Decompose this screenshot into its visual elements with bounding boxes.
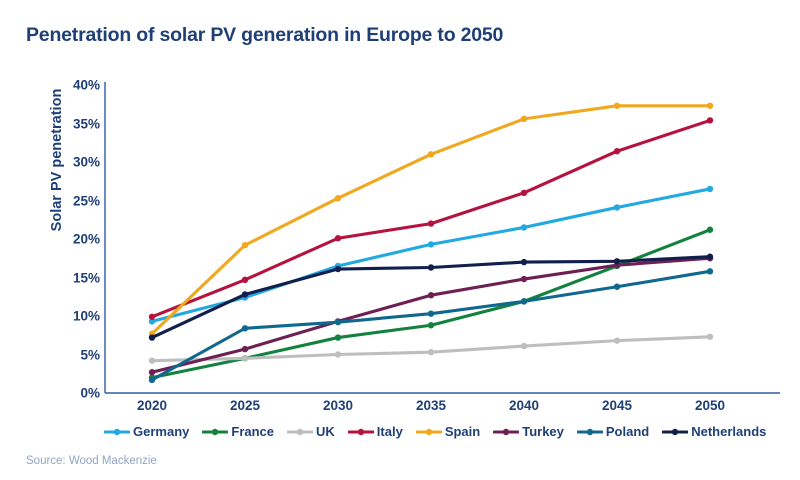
legend-item-netherlands[interactable]: Netherlands [662,424,766,439]
data-point [428,241,434,247]
data-point [521,343,527,349]
legend-label: Italy [377,424,403,439]
chart-series-uk [149,334,713,364]
data-point [614,258,620,264]
data-point [707,103,713,109]
data-point [335,334,341,340]
data-point [707,117,713,123]
data-point [707,186,713,192]
data-point [335,351,341,357]
data-point [428,322,434,328]
legend-swatch-icon [104,426,130,438]
x-tick-label: 2030 [323,398,353,413]
data-point [614,103,620,109]
data-point [335,266,341,272]
data-point [335,235,341,241]
legend-swatch-icon [577,426,603,438]
data-point [707,334,713,340]
legend-label: Turkey [522,424,564,439]
legend-item-spain[interactable]: Spain [416,424,480,439]
data-point [707,268,713,274]
data-point [149,369,155,375]
legend-item-france[interactable]: France [202,424,274,439]
legend-swatch-icon [202,426,228,438]
chart-axes [105,82,780,393]
x-tick-label: 2040 [509,398,539,413]
x-tick-label: 2035 [416,398,446,413]
data-point [428,264,434,270]
legend-item-germany[interactable]: Germany [104,424,189,439]
chart-plot-area: Solar PV penetration 0%5%10%15%20%25%30%… [0,0,800,480]
data-point [242,277,248,283]
legend-item-italy[interactable]: Italy [348,424,403,439]
data-point [614,284,620,290]
data-point [521,298,527,304]
data-point [521,259,527,265]
legend-label: France [231,424,274,439]
data-point [242,355,248,361]
data-point [521,224,527,230]
data-point [335,195,341,201]
data-point [149,357,155,363]
chart-card: Penetration of solar PV generation in Eu… [0,0,800,480]
source-note: Source: Wood Mackenzie [26,455,157,467]
legend-swatch-icon [662,426,688,438]
data-point [242,242,248,248]
data-point [335,319,341,325]
data-point [521,116,527,122]
data-point [614,204,620,210]
legend-label: Poland [606,424,649,439]
chart-series-italy [149,117,713,320]
legend-swatch-icon [287,426,313,438]
data-point [149,314,155,320]
legend-item-poland[interactable]: Poland [577,424,649,439]
data-point [614,337,620,343]
x-tick-label: 2020 [137,398,167,413]
legend-item-uk[interactable]: UK [287,424,335,439]
data-point [242,291,248,297]
data-point [242,346,248,352]
chart-svg [0,0,800,480]
chart-legend: GermanyFranceUKItalySpainTurkeyPolandNet… [104,424,784,439]
data-point [149,377,155,383]
data-point [707,227,713,233]
legend-label: Netherlands [691,424,766,439]
data-point [707,254,713,260]
legend-swatch-icon [416,426,442,438]
data-point [428,349,434,355]
legend-label: Germany [133,424,189,439]
x-tick-label: 2045 [602,398,632,413]
data-point [428,292,434,298]
legend-label: UK [316,424,335,439]
legend-swatch-icon [348,426,374,438]
x-tick-label: 2050 [695,398,725,413]
data-point [428,220,434,226]
data-point [521,190,527,196]
data-point [428,151,434,157]
legend-item-turkey[interactable]: Turkey [493,424,564,439]
legend-label: Spain [445,424,480,439]
data-point [428,310,434,316]
data-point [149,334,155,340]
data-point [614,148,620,154]
legend-swatch-icon [493,426,519,438]
data-point [242,325,248,331]
data-point [521,276,527,282]
x-tick-label: 2025 [230,398,260,413]
